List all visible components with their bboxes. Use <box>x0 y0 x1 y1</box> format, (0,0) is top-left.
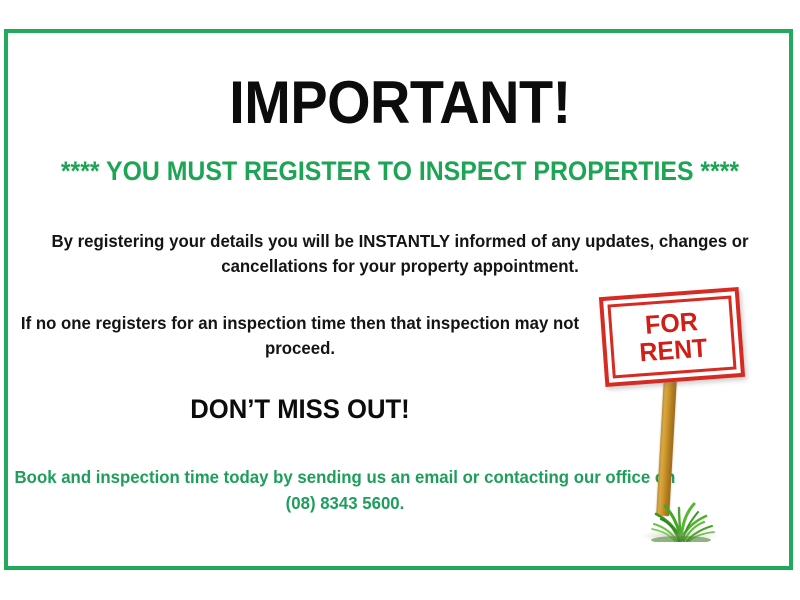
sign-text-rent: RENT <box>638 335 708 367</box>
poster-subtitle: **** YOU MUST REGISTER TO INSPECT PROPER… <box>32 156 768 186</box>
poster-paragraph-no-registration: If no one registers for an inspection ti… <box>12 311 588 361</box>
poster-footer-contact: Book and inspection time today by sendin… <box>14 464 676 516</box>
for-rent-sign-illustration: FOR RENT <box>596 288 771 538</box>
poster-call-to-action: DON’T MISS OUT! <box>15 394 585 424</box>
for-rent-sign-board: FOR RENT <box>599 287 745 387</box>
poster-paragraph-registering: By registering your details you will be … <box>16 229 784 279</box>
sign-board-inner: FOR RENT <box>607 296 736 379</box>
ground-shadow <box>640 530 718 542</box>
rental-notice-poster: IMPORTANT! **** YOU MUST REGISTER TO INS… <box>0 0 800 600</box>
page-title: IMPORTANT! <box>28 73 772 133</box>
